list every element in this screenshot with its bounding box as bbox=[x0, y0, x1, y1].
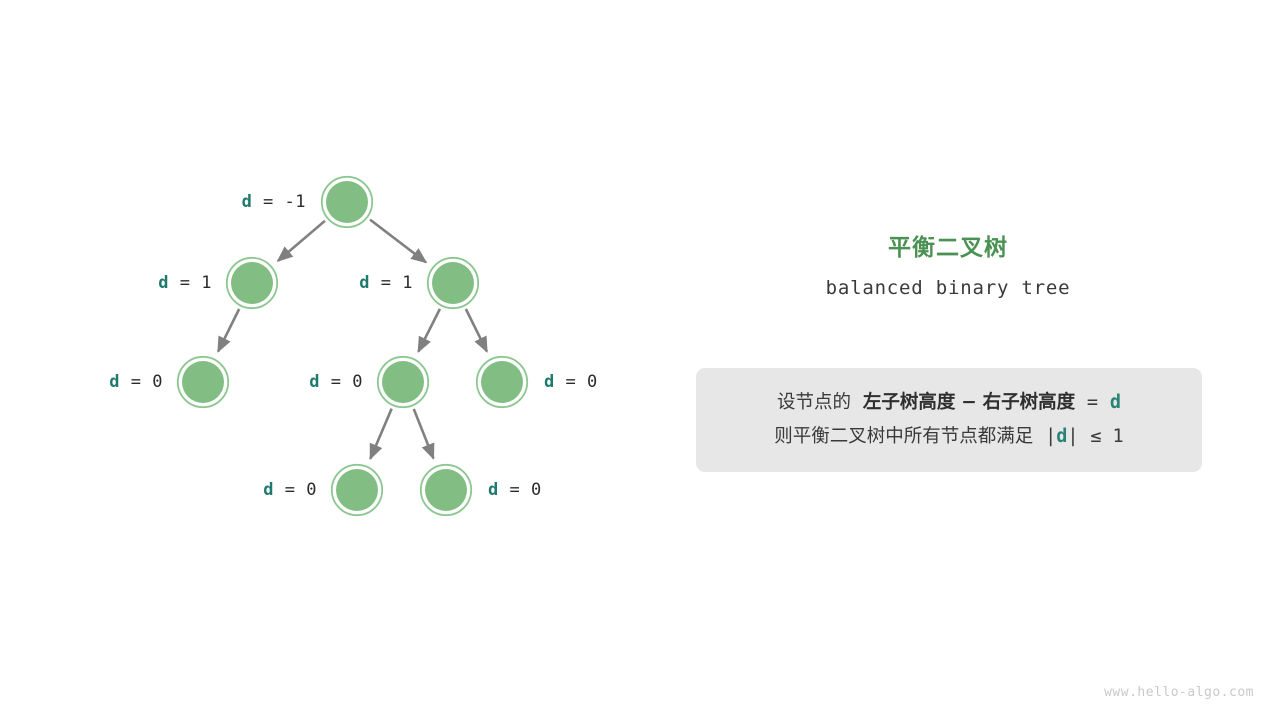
balance-variable: d bbox=[158, 273, 169, 293]
left-subtree-height-term: 左子树高度 bbox=[863, 392, 956, 413]
tree-node-disc bbox=[382, 361, 424, 403]
node-balance-label: d = 0 bbox=[109, 372, 163, 392]
tree-node bbox=[421, 465, 471, 515]
diagram-canvas: d = -1d = 1d = 1d = 0d = 0d = 0d = 0d = … bbox=[0, 0, 1280, 720]
balance-variable: d bbox=[359, 273, 370, 293]
node-balance-label: d = 1 bbox=[359, 273, 413, 293]
balance-variable: d bbox=[488, 480, 499, 500]
tree-node-disc bbox=[336, 469, 378, 511]
definition-prefix-2: 则平衡二叉树中所有节点都满足 bbox=[774, 426, 1033, 447]
right-subtree-height-term: 右子树高度 bbox=[983, 392, 1076, 413]
tree-edge bbox=[370, 409, 391, 459]
panel-subtitle: balanced binary tree bbox=[660, 277, 1236, 299]
balance-variable: d bbox=[109, 372, 120, 392]
relation-le-one: ≤ 1 bbox=[1090, 426, 1123, 447]
variable-d-line1: d bbox=[1110, 392, 1121, 413]
tree-node bbox=[178, 357, 228, 407]
abs-bar-left: | bbox=[1045, 426, 1056, 447]
watermark: www.hello-algo.com bbox=[1104, 685, 1254, 700]
tree-node-disc bbox=[231, 262, 273, 304]
balance-variable: d bbox=[263, 480, 274, 500]
binary-tree-diagram: d = -1d = 1d = 1d = 0d = 0d = 0d = 0d = … bbox=[0, 0, 660, 720]
definition-prefix-1: 设节点的 bbox=[777, 392, 851, 413]
tree-nodes bbox=[178, 177, 527, 515]
tree-edge bbox=[370, 220, 426, 263]
variable-d-line2: d bbox=[1056, 426, 1067, 447]
tree-node bbox=[477, 357, 527, 407]
tree-node-disc bbox=[182, 361, 224, 403]
tree-node bbox=[332, 465, 382, 515]
balance-value: = 0 bbox=[120, 372, 163, 392]
node-balance-label: d = 1 bbox=[158, 273, 212, 293]
tree-node-disc bbox=[481, 361, 523, 403]
tree-edge bbox=[278, 221, 325, 261]
balance-value: = 0 bbox=[499, 480, 542, 500]
node-balance-label: d = 0 bbox=[263, 480, 317, 500]
tree-node bbox=[322, 177, 372, 227]
balance-variable: d bbox=[242, 192, 253, 212]
tree-edge bbox=[466, 309, 487, 352]
tree-edges bbox=[218, 220, 487, 459]
definition-line-1: 设节点的 左子树高度 − 右子树高度 = d bbox=[696, 386, 1202, 420]
node-balance-label: d = 0 bbox=[488, 480, 542, 500]
abs-bar-right: | bbox=[1067, 426, 1078, 447]
tree-node bbox=[428, 258, 478, 308]
tree-node-disc bbox=[326, 181, 368, 223]
balance-variable: d bbox=[544, 372, 555, 392]
info-panel: 平衡二叉树 balanced binary tree 设节点的 左子树高度 − … bbox=[660, 0, 1280, 720]
tree-node-disc bbox=[432, 262, 474, 304]
node-balance-label: d = 0 bbox=[544, 372, 598, 392]
balance-variable: d bbox=[309, 372, 320, 392]
node-balance-label: d = 0 bbox=[309, 372, 363, 392]
balance-value: = 1 bbox=[169, 273, 212, 293]
tree-graphics bbox=[0, 0, 660, 720]
tree-edge bbox=[418, 309, 440, 352]
panel-title: 平衡二叉树 bbox=[660, 228, 1236, 262]
definition-line-2: 则平衡二叉树中所有节点都满足 |d| ≤ 1 bbox=[696, 420, 1202, 454]
balance-value: = -1 bbox=[252, 192, 306, 212]
tree-node-disc bbox=[425, 469, 467, 511]
tree-edge bbox=[414, 409, 434, 458]
balance-value: = 0 bbox=[555, 372, 598, 392]
tree-node bbox=[378, 357, 428, 407]
balance-value: = 1 bbox=[370, 273, 413, 293]
balance-value: = 0 bbox=[274, 480, 317, 500]
balance-value: = 0 bbox=[320, 372, 363, 392]
definition-box: 设节点的 左子树高度 − 右子树高度 = d 则平衡二叉树中所有节点都满足 |d… bbox=[696, 368, 1202, 472]
equals-operator: = bbox=[1087, 392, 1098, 413]
tree-node bbox=[227, 258, 277, 308]
minus-operator: − bbox=[961, 392, 977, 413]
tree-edge bbox=[218, 309, 239, 352]
node-balance-label: d = -1 bbox=[242, 192, 306, 212]
